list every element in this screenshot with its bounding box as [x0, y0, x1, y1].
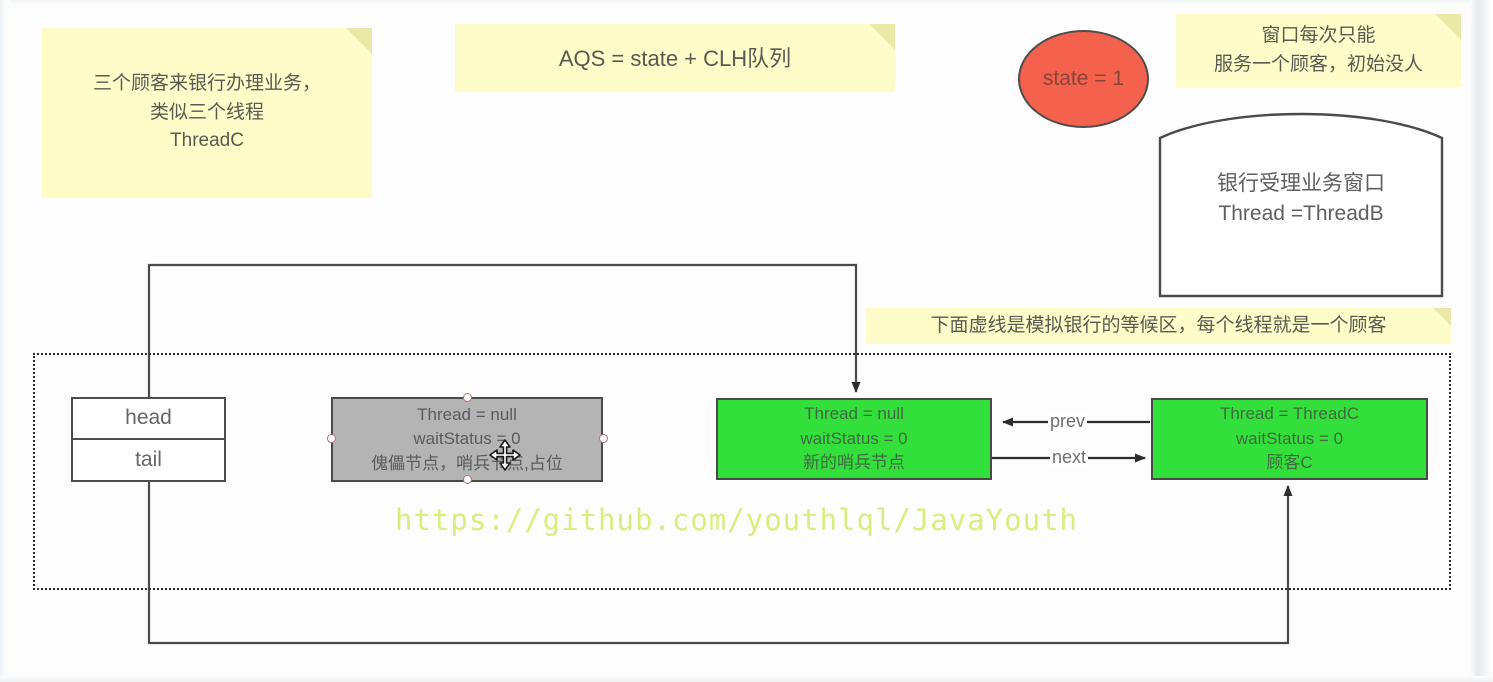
sticky-note-customers: 三个顾客来银行办理业务， 类似三个线程 ThreadC: [42, 28, 372, 198]
bank-window-text: 银行受理业务窗口 Thread =ThreadB: [1217, 169, 1385, 230]
watermark-url: https://github.com/youthlql/JavaYouth: [395, 503, 1078, 537]
tail-cell[interactable]: tail: [73, 440, 224, 481]
watermark-text: https://github.com/youthlql/JavaYouth: [395, 503, 1078, 537]
bank-window-line: 银行受理业务窗口: [1217, 169, 1385, 199]
page-edge-top: [0, 0, 1493, 5]
sticky-note-window-capacity: 窗口每次只能 服务一个顾客，初始没人: [1176, 14, 1461, 87]
node-line: Thread = ThreadC: [1220, 402, 1359, 427]
head-cell[interactable]: head: [73, 399, 224, 440]
page-edge-bottom: [0, 676, 1493, 682]
sticky-note-aqs: AQS = state + CLH队列: [455, 24, 895, 92]
note-fold-corner-icon: [869, 24, 895, 50]
note-line: 下面虚线是模拟银行的等候区，每个线程就是一个顾客: [930, 312, 1386, 341]
note-line: AQS = state + CLH队列: [559, 42, 791, 75]
note-line: 三个顾客来银行办理业务，: [93, 70, 321, 99]
note-line: 窗口每次只能: [1261, 22, 1375, 51]
bank-service-window: 银行受理业务窗口 Thread =ThreadB: [1158, 100, 1444, 298]
selection-handle-top[interactable]: [463, 393, 472, 402]
page-scrollbar-right[interactable]: [1470, 0, 1493, 682]
node-new-sentinel[interactable]: Thread = null waitStatus = 0 新的哨兵节点: [716, 398, 992, 480]
page-edge-left: [0, 0, 10, 682]
note-fold-corner-icon: [1433, 308, 1451, 326]
node-line: 顾客C: [1266, 451, 1312, 476]
selection-handle-right[interactable]: [599, 434, 608, 443]
state-label: state = 1: [1043, 67, 1124, 91]
selection-handle-bottom[interactable]: [463, 475, 472, 484]
note-fold-corner-icon: [1435, 14, 1461, 40]
sticky-note-waiting-area: 下面虚线是模拟银行的等候区，每个线程就是一个顾客: [866, 308, 1451, 344]
node-thread-c[interactable]: Thread = ThreadC waitStatus = 0 顾客C: [1151, 398, 1428, 480]
move-cursor: [488, 438, 522, 472]
state-circle: state = 1: [1018, 30, 1149, 128]
prev-label: prev: [1050, 411, 1085, 431]
node-line: 新的哨兵节点: [803, 451, 905, 476]
edge-label-prev: prev: [1048, 411, 1087, 432]
node-line: Thread = null: [417, 403, 517, 428]
note-line: 类似三个线程: [150, 99, 264, 128]
node-line: Thread = null: [804, 402, 904, 427]
head-label: head: [125, 406, 172, 430]
node-line: 傀儡节点，哨兵节点,占位: [371, 452, 563, 477]
next-label: next: [1052, 447, 1086, 467]
diagram-canvas: 三个顾客来银行办理业务， 类似三个线程 ThreadC AQS = state …: [0, 0, 1493, 682]
note-fold-corner-icon: [346, 28, 372, 54]
bank-window-line: Thread =ThreadB: [1217, 199, 1385, 229]
selection-handle-left[interactable]: [327, 434, 336, 443]
node-line: waitStatus = 0: [800, 427, 907, 452]
node-line: waitStatus = 0: [1236, 427, 1343, 452]
note-line: ThreadC: [170, 127, 244, 156]
node-old-sentinel[interactable]: Thread = null waitStatus = 0 傀儡节点，哨兵节点,占…: [331, 397, 603, 482]
tail-label: tail: [135, 448, 162, 472]
note-line: 服务一个顾客，初始没人: [1214, 51, 1423, 80]
head-tail-box[interactable]: head tail: [71, 397, 226, 482]
edge-label-next: next: [1050, 447, 1088, 468]
